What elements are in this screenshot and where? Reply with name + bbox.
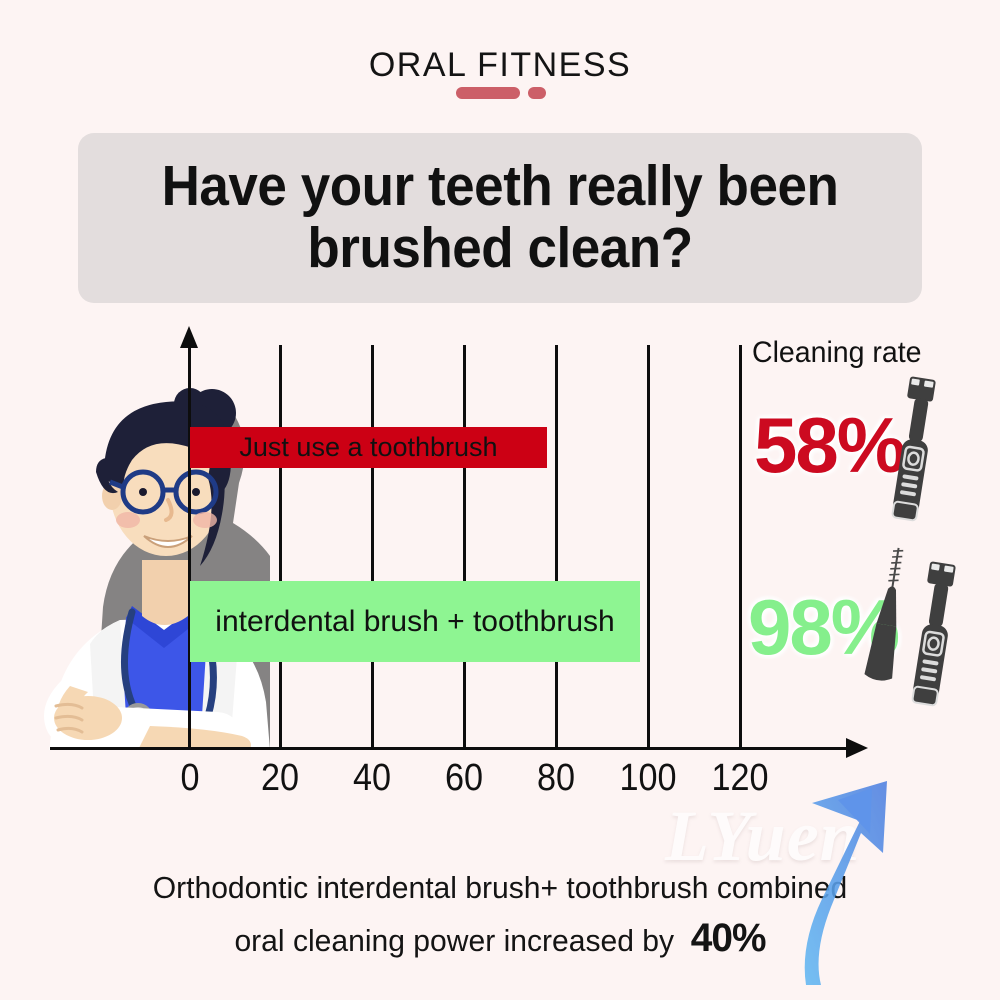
infographic-canvas: ORAL FITNESS Have your teeth really been… <box>0 0 1000 1000</box>
rising-arrow-icon <box>0 0 1000 1000</box>
